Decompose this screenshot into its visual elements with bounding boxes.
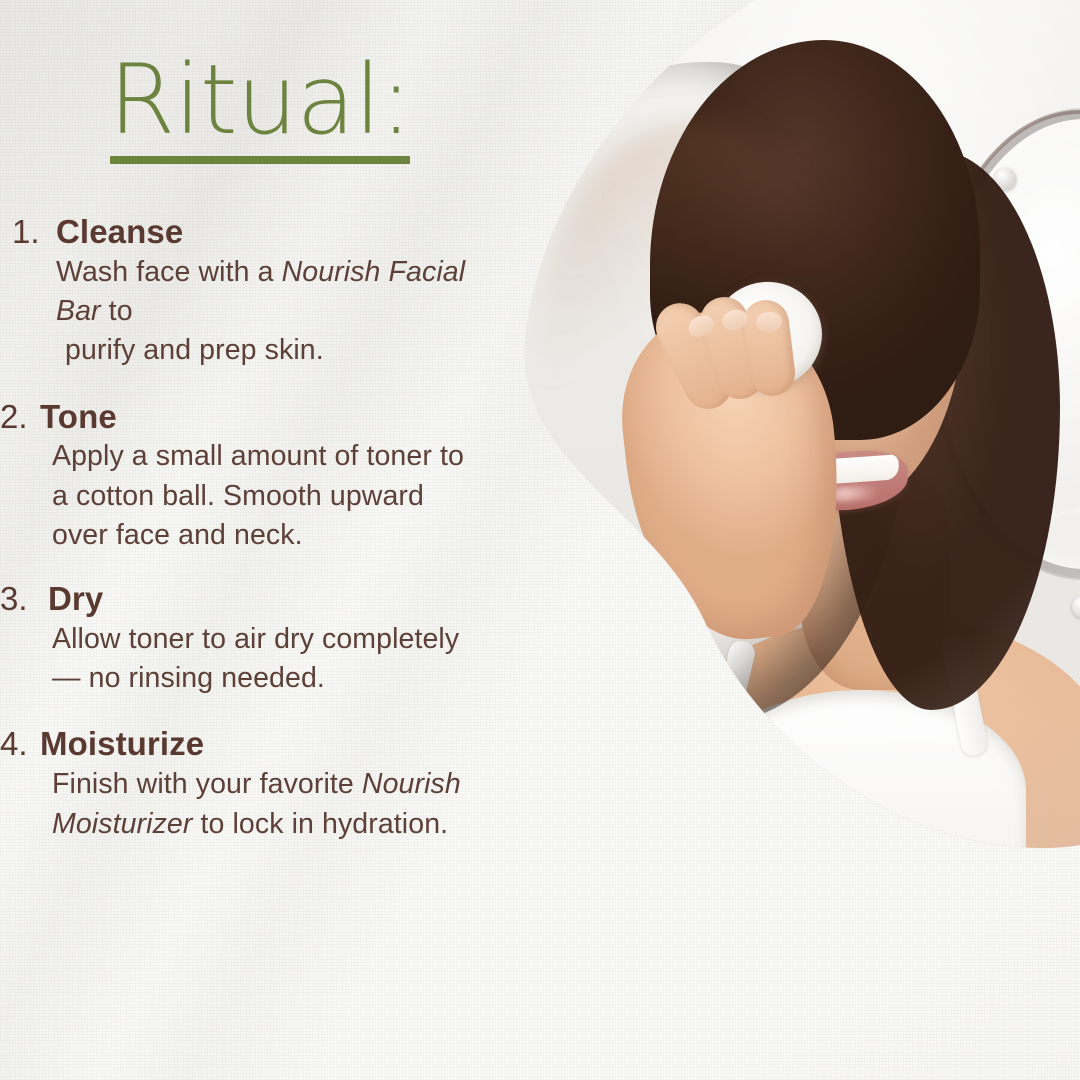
page-title: Ritual: <box>0 52 520 148</box>
step-heading: 4. Moisturize <box>0 726 530 763</box>
step-number: 2. <box>0 399 40 436</box>
list-item: 4. Moisturize Finish with your favorite … <box>0 726 530 843</box>
list-item: 1. Cleanse Wash face with a Nourish Faci… <box>0 214 530 371</box>
step-body-pre: Wash face with a <box>56 256 274 288</box>
infographic-canvas: Ritual: 1. Cleanse Wash face with a Nour… <box>0 0 1080 1080</box>
title-block: Ritual: <box>0 52 520 164</box>
step-title: Tone <box>40 399 117 436</box>
step-heading: 3. Dry <box>0 581 530 618</box>
step-heading: 2. Tone <box>0 399 530 436</box>
step-body-post: to lock in <box>192 808 314 840</box>
step-body-last: purify and prep skin. <box>56 331 486 370</box>
step-body: Wash face with a Nourish Facial Bar to p… <box>56 253 486 371</box>
step-title: Cleanse <box>56 214 183 251</box>
step-number: 3. <box>0 581 48 618</box>
title-underline-rule <box>110 156 410 164</box>
list-item: 2. Tone Apply a small amount of toner to… <box>0 399 530 556</box>
hero-photo <box>500 0 1080 870</box>
step-body-pre: Finish with your favorite <box>52 768 354 800</box>
step-number: 1. <box>12 214 56 251</box>
steps-list: 1. Cleanse Wash face with a Nourish Faci… <box>0 214 530 866</box>
step-body: Apply a small amount of toner to a cotto… <box>52 437 482 555</box>
step-body: Allow toner to air dry completely — no r… <box>52 620 482 698</box>
step-title: Dry <box>48 581 103 618</box>
photo-inner <box>500 0 1080 870</box>
step-heading: 1. Cleanse <box>0 214 530 251</box>
text-column: Ritual: 1. Cleanse Wash face with a Nour… <box>0 0 540 1080</box>
step-number: 4. <box>0 726 40 763</box>
step-body-last: hydration. <box>322 808 448 840</box>
step-body-post: to <box>101 295 133 327</box>
step-title: Moisturize <box>40 726 204 763</box>
step-body: Finish with your favorite Nourish Moistu… <box>52 765 482 843</box>
list-item: 3. Dry Allow toner to air dry completely… <box>0 581 530 698</box>
